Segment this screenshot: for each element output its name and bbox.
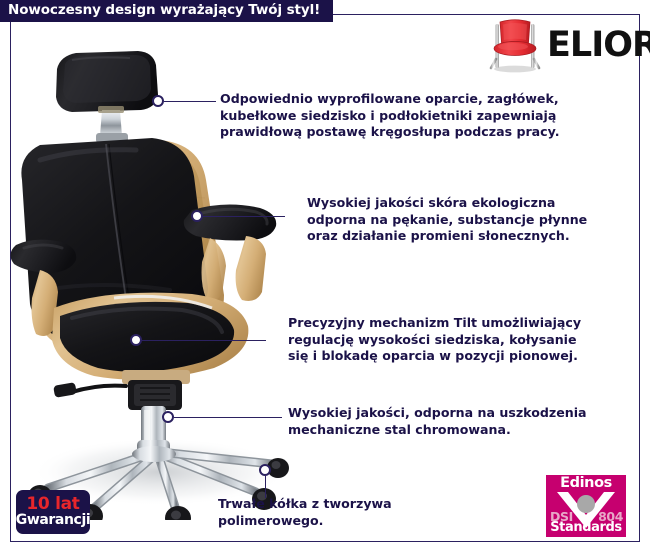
callout-text-leather: Wysokiej jakości skóra ekologiczna odpor… bbox=[307, 195, 627, 245]
callout-dot-tilt[interactable] bbox=[130, 334, 142, 346]
brand-logo: ELIOR bbox=[487, 14, 637, 76]
leader-line-backrest bbox=[164, 101, 216, 103]
leader-line-leather bbox=[203, 216, 285, 218]
header-banner-text: Nowoczesny design wyrażający Twój styl! bbox=[0, 4, 320, 18]
header-banner: Nowoczesny design wyrażający Twój styl! bbox=[0, 0, 333, 22]
edinos-name: Edinos bbox=[546, 476, 626, 492]
callout-dot-steel[interactable] bbox=[162, 411, 174, 423]
callout-dot-backrest[interactable] bbox=[152, 95, 164, 107]
warranty-label: Gwarancji bbox=[16, 513, 90, 528]
leader-line-tilt bbox=[142, 340, 266, 342]
brand-wordmark: ELIOR bbox=[547, 28, 650, 63]
callout-text-castors: Trwałe kółka z tworzywa polimerowego. bbox=[218, 496, 478, 529]
callout-text-steel: Wysokiej jakości, odporna na uszkodzenia… bbox=[288, 405, 628, 438]
leader-line-steel bbox=[174, 417, 282, 419]
callout-text-backrest: Odpowiednio wyprofilowane oparcie, zagłó… bbox=[220, 91, 620, 141]
callout-dot-leather[interactable] bbox=[191, 210, 203, 222]
red-chair-icon bbox=[487, 16, 543, 74]
edinos-standards-label: Standards bbox=[546, 520, 626, 535]
warranty-years: 10 lat bbox=[26, 496, 79, 513]
leader-line-castors bbox=[265, 476, 267, 498]
callout-text-tilt: Precyzyjny mechanizm Tilt umożliwiający … bbox=[288, 315, 628, 365]
callout-dot-castors[interactable] bbox=[259, 464, 271, 476]
product-infographic-page: Nowoczesny design wyrażający Twój styl! bbox=[0, 0, 650, 560]
edinos-standards-badge: Edinos DSI 804 Standards bbox=[546, 475, 626, 537]
warranty-badge: 10 lat Gwarancji bbox=[16, 490, 90, 534]
